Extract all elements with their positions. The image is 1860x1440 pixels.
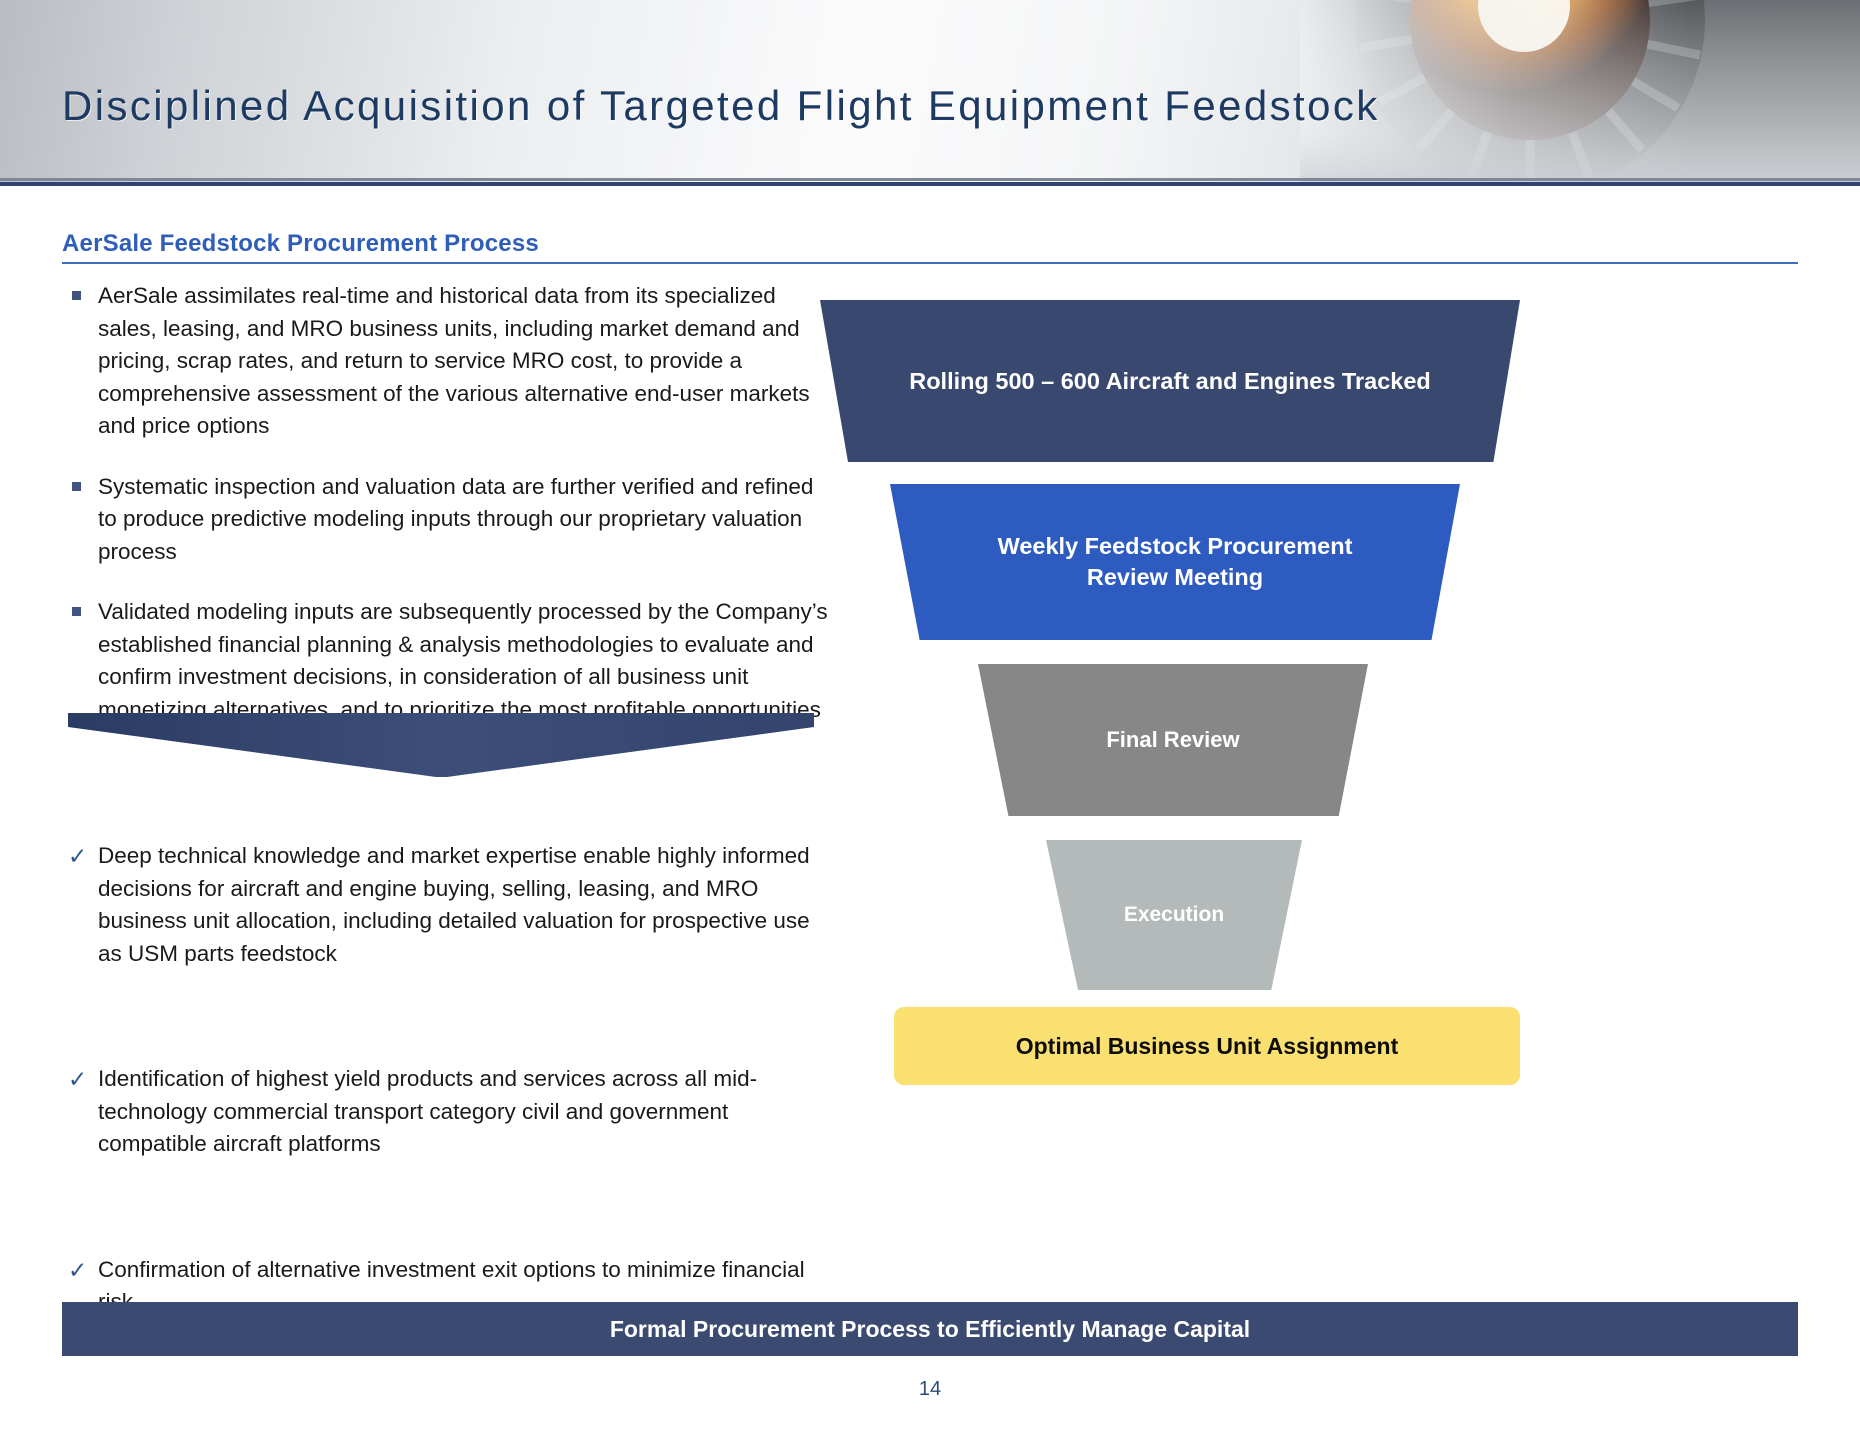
bullet-text: Systematic inspection and valuation data… [98,474,813,564]
funnel-stage-label: Final Review [1106,727,1239,753]
spacer [68,970,828,1063]
spacer [68,1161,828,1254]
header-divider-navy [0,182,1860,186]
check-icon: ✓ [68,840,87,873]
square-bullet-icon [72,607,81,616]
procurement-funnel-diagram: Rolling 500 – 600 Aircraft and Engines T… [820,300,1820,1100]
square-bullet-icon [72,291,81,300]
jet-engine-photo [1300,0,1860,186]
funnel-stage-execution: Execution [1046,840,1302,990]
funnel-stage-final-review: Final Review [978,664,1368,816]
bullet-text: Validated modeling inputs are subsequent… [98,599,828,722]
funnel-stage-label-line2: Review Meeting [1087,564,1263,590]
funnel-stage-label: Weekly Feedstock Procurement Review Meet… [998,531,1353,593]
list-item: AerSale assimilates real-time and histor… [68,280,828,443]
header-divider-gray [0,178,1860,181]
down-arrow-divider [68,713,814,785]
check-text: Deep technical knowledge and market expe… [98,843,810,966]
slide-header-band: Disciplined Acquisition of Targeted Flig… [0,0,1860,186]
bottom-banner-label: Formal Procurement Process to Efficientl… [610,1316,1250,1343]
funnel-outcome-box: Optimal Business Unit Assignment [894,1007,1520,1085]
bullet-list: AerSale assimilates real-time and histor… [68,280,828,754]
list-item: Validated modeling inputs are subsequent… [68,596,828,726]
section-heading: AerSale Feedstock Procurement Process [62,230,539,258]
check-icon: ✓ [68,1254,87,1287]
funnel-stage-label-line1: Weekly Feedstock Procurement [998,533,1353,559]
bottom-banner: Formal Procurement Process to Efficientl… [62,1302,1798,1356]
funnel-outcome-label: Optimal Business Unit Assignment [1016,1033,1399,1060]
check-list: ✓ Deep technical knowledge and market ex… [68,840,828,1319]
section-underline [62,262,1798,264]
funnel-stage-tracked: Rolling 500 – 600 Aircraft and Engines T… [820,300,1520,462]
funnel-stage-label: Rolling 500 – 600 Aircraft and Engines T… [909,368,1431,395]
list-item: Systematic inspection and valuation data… [68,471,828,569]
funnel-stage-review-meeting: Weekly Feedstock Procurement Review Meet… [890,484,1460,640]
list-item: ✓ Deep technical knowledge and market ex… [68,840,828,970]
check-text: Identification of highest yield products… [98,1066,757,1156]
funnel-stage-label: Execution [1124,903,1224,927]
square-bullet-icon [72,482,81,491]
page-title: Disciplined Acquisition of Targeted Flig… [62,82,1380,130]
page-number: 14 [0,1378,1860,1401]
list-item: ✓ Identification of highest yield produc… [68,1063,828,1161]
bullet-text: AerSale assimilates real-time and histor… [98,283,810,438]
check-icon: ✓ [68,1063,87,1096]
